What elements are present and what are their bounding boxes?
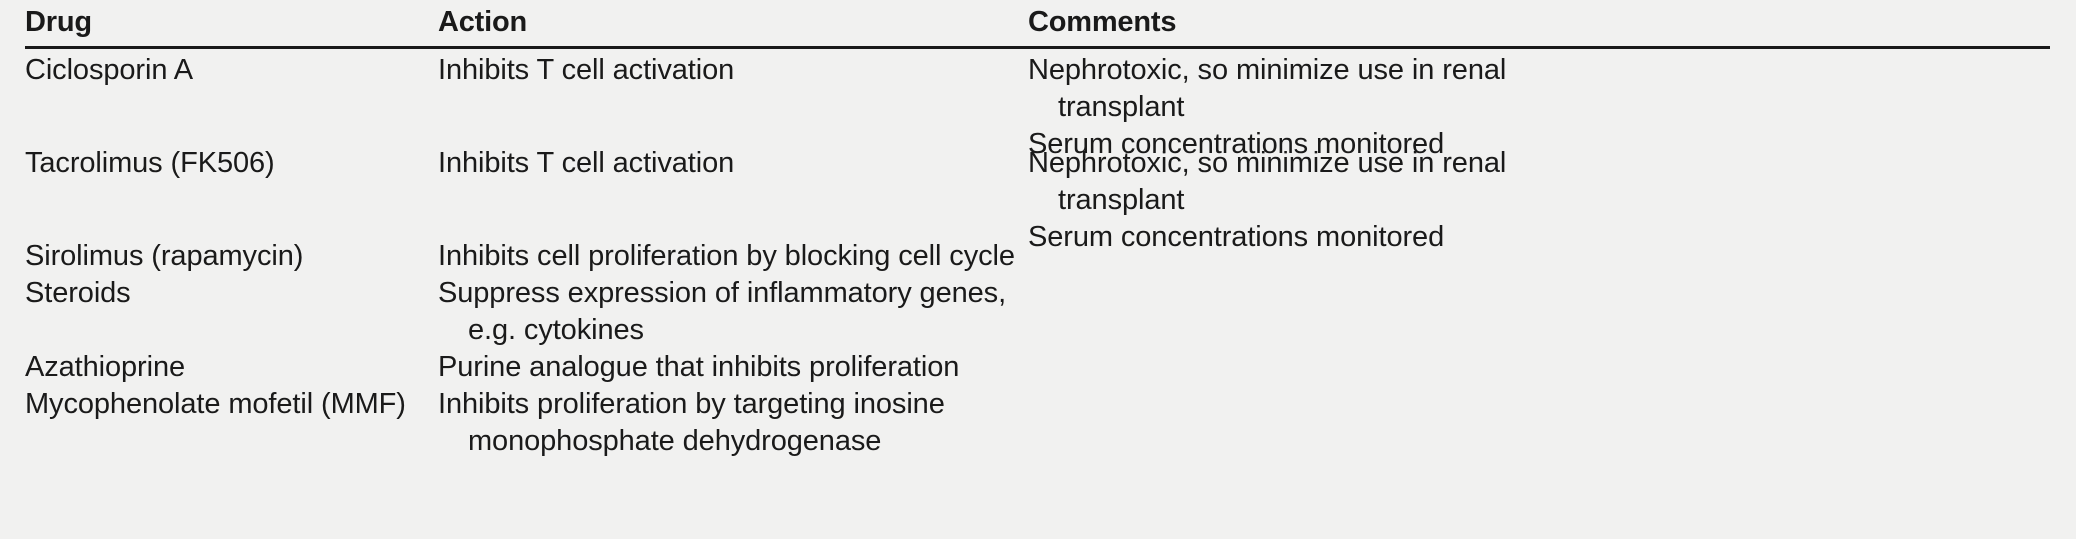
cell-action: Inhibits proliferation by targeting inos… [438, 386, 1018, 460]
cell-line: Azathioprine [25, 349, 430, 386]
cell-line: Nephrotoxic, so minimize use in renal [1028, 52, 2048, 89]
cell-line: Inhibits T cell activation [438, 145, 1018, 182]
cell-line: transplant [1028, 89, 2048, 126]
cell-line: Inhibits cell proliferation by blocking … [438, 238, 1018, 275]
cell-drug: Steroids [25, 275, 430, 312]
column-header-action: Action [438, 2, 1018, 42]
cell-drug: Ciclosporin A [25, 52, 430, 89]
cell-line: Ciclosporin A [25, 52, 430, 89]
cell-action: Suppress expression of inflammatory gene… [438, 275, 1018, 349]
cell-line: Mycophenolate mofetil (MMF) [25, 386, 430, 423]
table-header-row: Drug Action Comments [0, 0, 2076, 46]
cell-drug: Sirolimus (rapamycin) [25, 238, 430, 275]
cell-line: Tacrolimus (FK506) [25, 145, 430, 182]
cell-line: Suppress expression of inflammatory gene… [438, 275, 1018, 312]
cell-drug: Mycophenolate mofetil (MMF) [25, 386, 430, 423]
cell-line: Serum concentrations monitored [1028, 219, 2048, 256]
cell-action: Purine analogue that inhibits proliferat… [438, 349, 1018, 386]
cell-line: e.g. cytokines [438, 312, 1018, 349]
cell-drug: Azathioprine [25, 349, 430, 386]
cell-line: monophosphate dehydrogenase [438, 423, 1018, 460]
cell-line: Nephrotoxic, so minimize use in renal [1028, 145, 2048, 182]
cell-action: Inhibits cell proliferation by blocking … [438, 238, 1018, 275]
drug-table: Drug Action Comments Ciclosporin AInhibi… [0, 0, 2076, 539]
cell-comments: Nephrotoxic, so minimize use in renaltra… [1028, 145, 2048, 256]
cell-line: Purine analogue that inhibits proliferat… [438, 349, 1018, 386]
cell-action: Inhibits T cell activation [438, 145, 1018, 182]
column-header-comments: Comments [1028, 2, 2048, 42]
cell-line: Inhibits T cell activation [438, 52, 1018, 89]
header-divider-rule [25, 46, 2050, 49]
cell-line: Steroids [25, 275, 430, 312]
column-header-drug: Drug [25, 2, 430, 42]
cell-drug: Tacrolimus (FK506) [25, 145, 430, 182]
cell-line: transplant [1028, 182, 2048, 219]
cell-line: Inhibits proliferation by targeting inos… [438, 386, 1018, 423]
cell-line: Sirolimus (rapamycin) [25, 238, 430, 275]
cell-action: Inhibits T cell activation [438, 52, 1018, 89]
